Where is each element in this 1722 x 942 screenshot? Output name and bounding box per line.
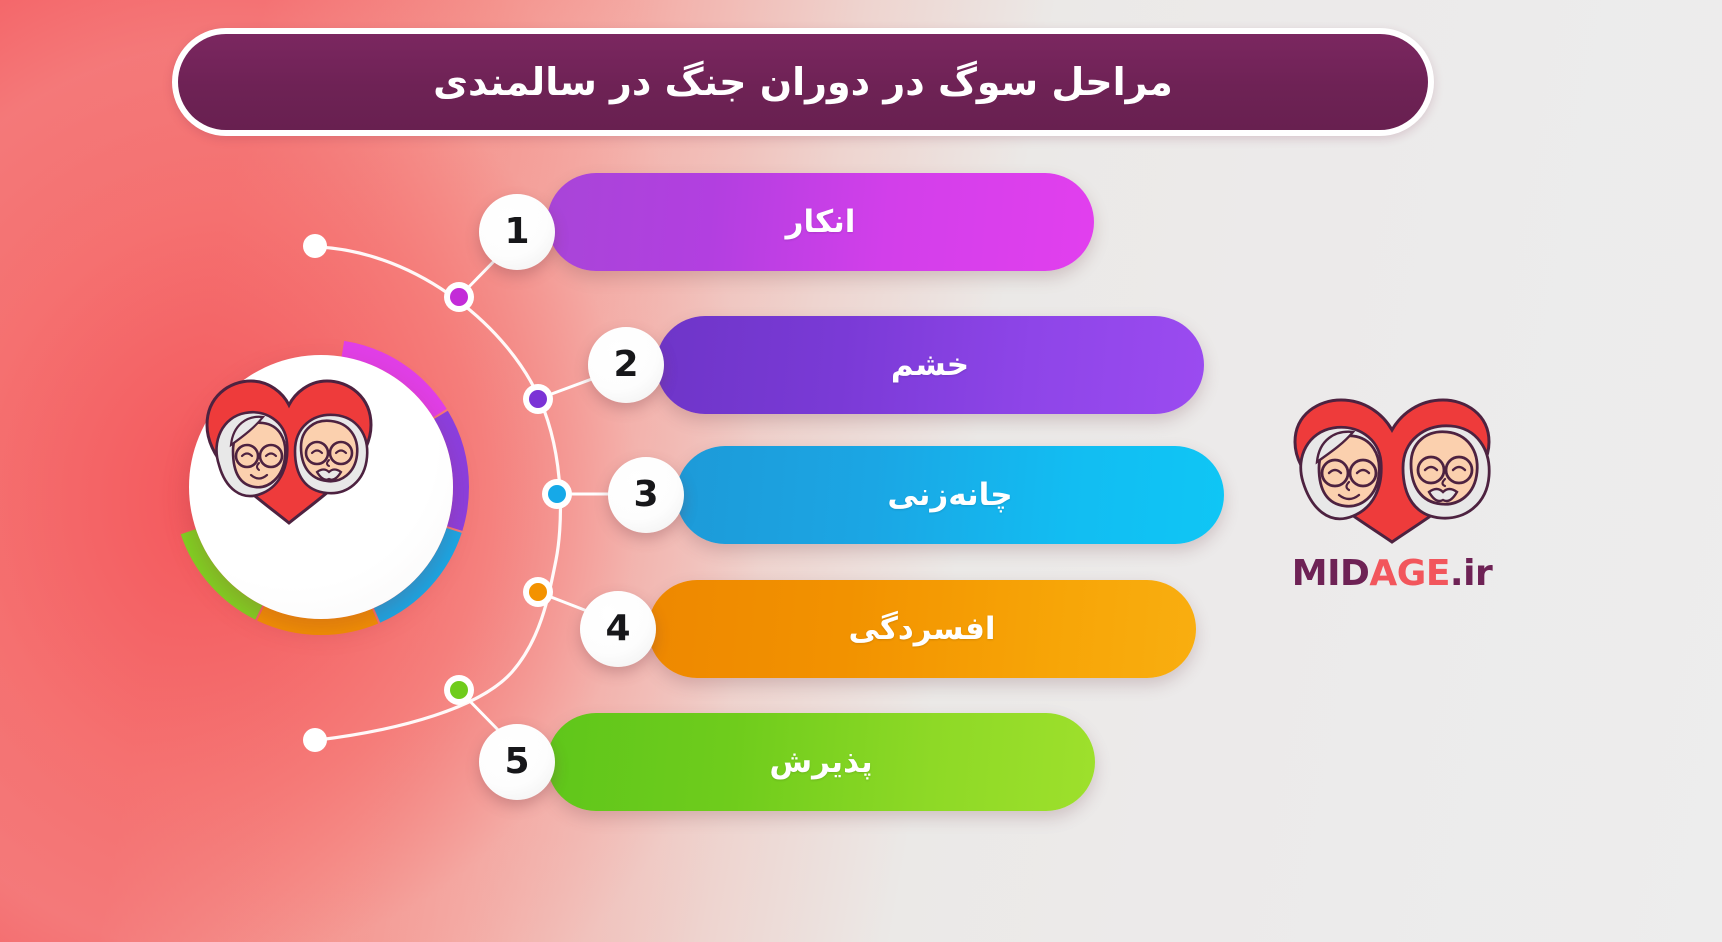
stage-number-3-text: 3 [633, 477, 658, 513]
stage-number-4[interactable]: 4 [580, 591, 656, 667]
junction-dot-1 [444, 282, 474, 312]
title-banner: مراحل سوگ در دوران جنگ در سالمندی [172, 28, 1434, 136]
elderly-couple-heart-icon [189, 355, 389, 535]
stage-label-2: خشم [891, 350, 969, 381]
grandmother-face [217, 412, 288, 496]
grandfather-face [295, 415, 367, 493]
stage-number-1[interactable]: 1 [479, 194, 555, 270]
stage-label-3: چانه‌زنی [887, 480, 1012, 511]
junction-dot-4 [523, 577, 553, 607]
brand-wordmark: MIDAGE.ir [1292, 556, 1492, 592]
brand-grandfather-face [1403, 426, 1489, 518]
brand-logo[interactable]: MIDAGE.ir [1258, 398, 1526, 613]
junction-dot-5 [444, 675, 474, 705]
arc-cap-bottom [303, 728, 327, 752]
junction-dot-2 [523, 384, 553, 414]
brand-text-age: AGE [1369, 553, 1450, 594]
stage-pill-5[interactable]: پذیرش [547, 713, 1095, 811]
page-title: مراحل سوگ در دوران جنگ در سالمندی [433, 63, 1173, 101]
stage-number-1-text: 1 [504, 214, 529, 250]
junction-dot-3 [542, 479, 572, 509]
stage-label-1: انکار [786, 207, 856, 238]
stage-number-2[interactable]: 2 [588, 327, 664, 403]
stage-pill-3[interactable]: چانه‌زنی [676, 446, 1224, 544]
stage-pill-4[interactable]: افسردگی [648, 580, 1196, 678]
infographic-canvas: مراحل سوگ در دوران جنگ در سالمندی [0, 0, 1722, 942]
central-emblem [172, 338, 470, 636]
stage-pill-2[interactable]: خشم [656, 316, 1204, 414]
stage-number-5-text: 5 [504, 744, 529, 780]
emblem-disc [189, 355, 453, 619]
stage-label-5: پذیرش [769, 747, 872, 778]
stage-number-4-text: 4 [605, 611, 630, 647]
stage-number-5[interactable]: 5 [479, 724, 555, 800]
title-bar: مراحل سوگ در دوران جنگ در سالمندی [178, 34, 1428, 130]
arc-cap-top [303, 234, 327, 258]
stage-label-4: افسردگی [848, 614, 995, 645]
stage-pill-1[interactable]: انکار [547, 173, 1094, 271]
brand-text-mid: MID [1292, 553, 1370, 594]
spoke-5 [459, 690, 503, 735]
brand-heart-couple-icon [1267, 398, 1517, 548]
stage-number-2-text: 2 [613, 347, 638, 383]
brand-grandmother-face [1301, 427, 1382, 518]
stage-number-3[interactable]: 3 [608, 457, 684, 533]
brand-text-tld: .ir [1450, 553, 1492, 594]
